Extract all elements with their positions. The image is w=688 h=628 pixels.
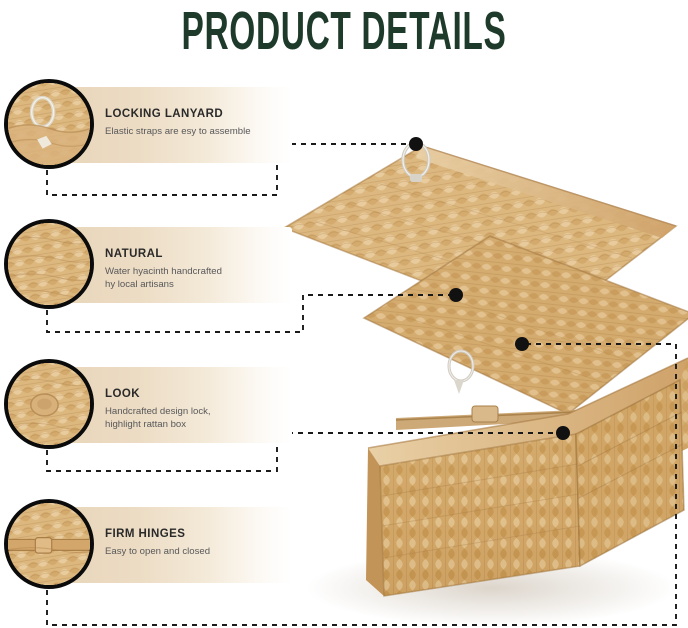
feature-callout-firm-hinges[interactable]: FIRM HINGES Easy to open and closed — [2, 499, 294, 591]
callout-title: LOOK — [105, 388, 140, 400]
thumb-natural — [4, 219, 94, 309]
callout-title: NATURAL — [105, 248, 163, 260]
page-title: PRODUCT DETAILS — [131, 4, 558, 58]
infographic-canvas: PRODUCT DETAILS — [0, 0, 688, 628]
callout-description: Water hyacinth handcrafted hy local arti… — [105, 266, 222, 291]
feature-callout-natural[interactable]: NATURAL Water hyacinth handcrafted hy lo… — [2, 219, 294, 311]
thumb-firm-hinges — [4, 499, 94, 589]
callout-title: LOCKING LANYARD — [105, 108, 223, 120]
thumb-locking-lanyard — [4, 79, 94, 169]
callout-description: Handcrafted design lock, highlight ratta… — [105, 406, 211, 431]
callout-title: FIRM HINGES — [105, 528, 185, 540]
product-image — [276, 118, 688, 628]
feature-callout-look[interactable]: LOOK Handcrafted design lock, highlight … — [2, 359, 294, 451]
callout-description: Easy to open and closed — [105, 546, 210, 559]
feature-callout-locking-lanyard[interactable]: LOCKING LANYARD Elastic straps are esy t… — [2, 79, 294, 171]
callout-description: Elastic straps are esy to assemble — [105, 126, 251, 139]
thumb-look — [4, 359, 94, 449]
